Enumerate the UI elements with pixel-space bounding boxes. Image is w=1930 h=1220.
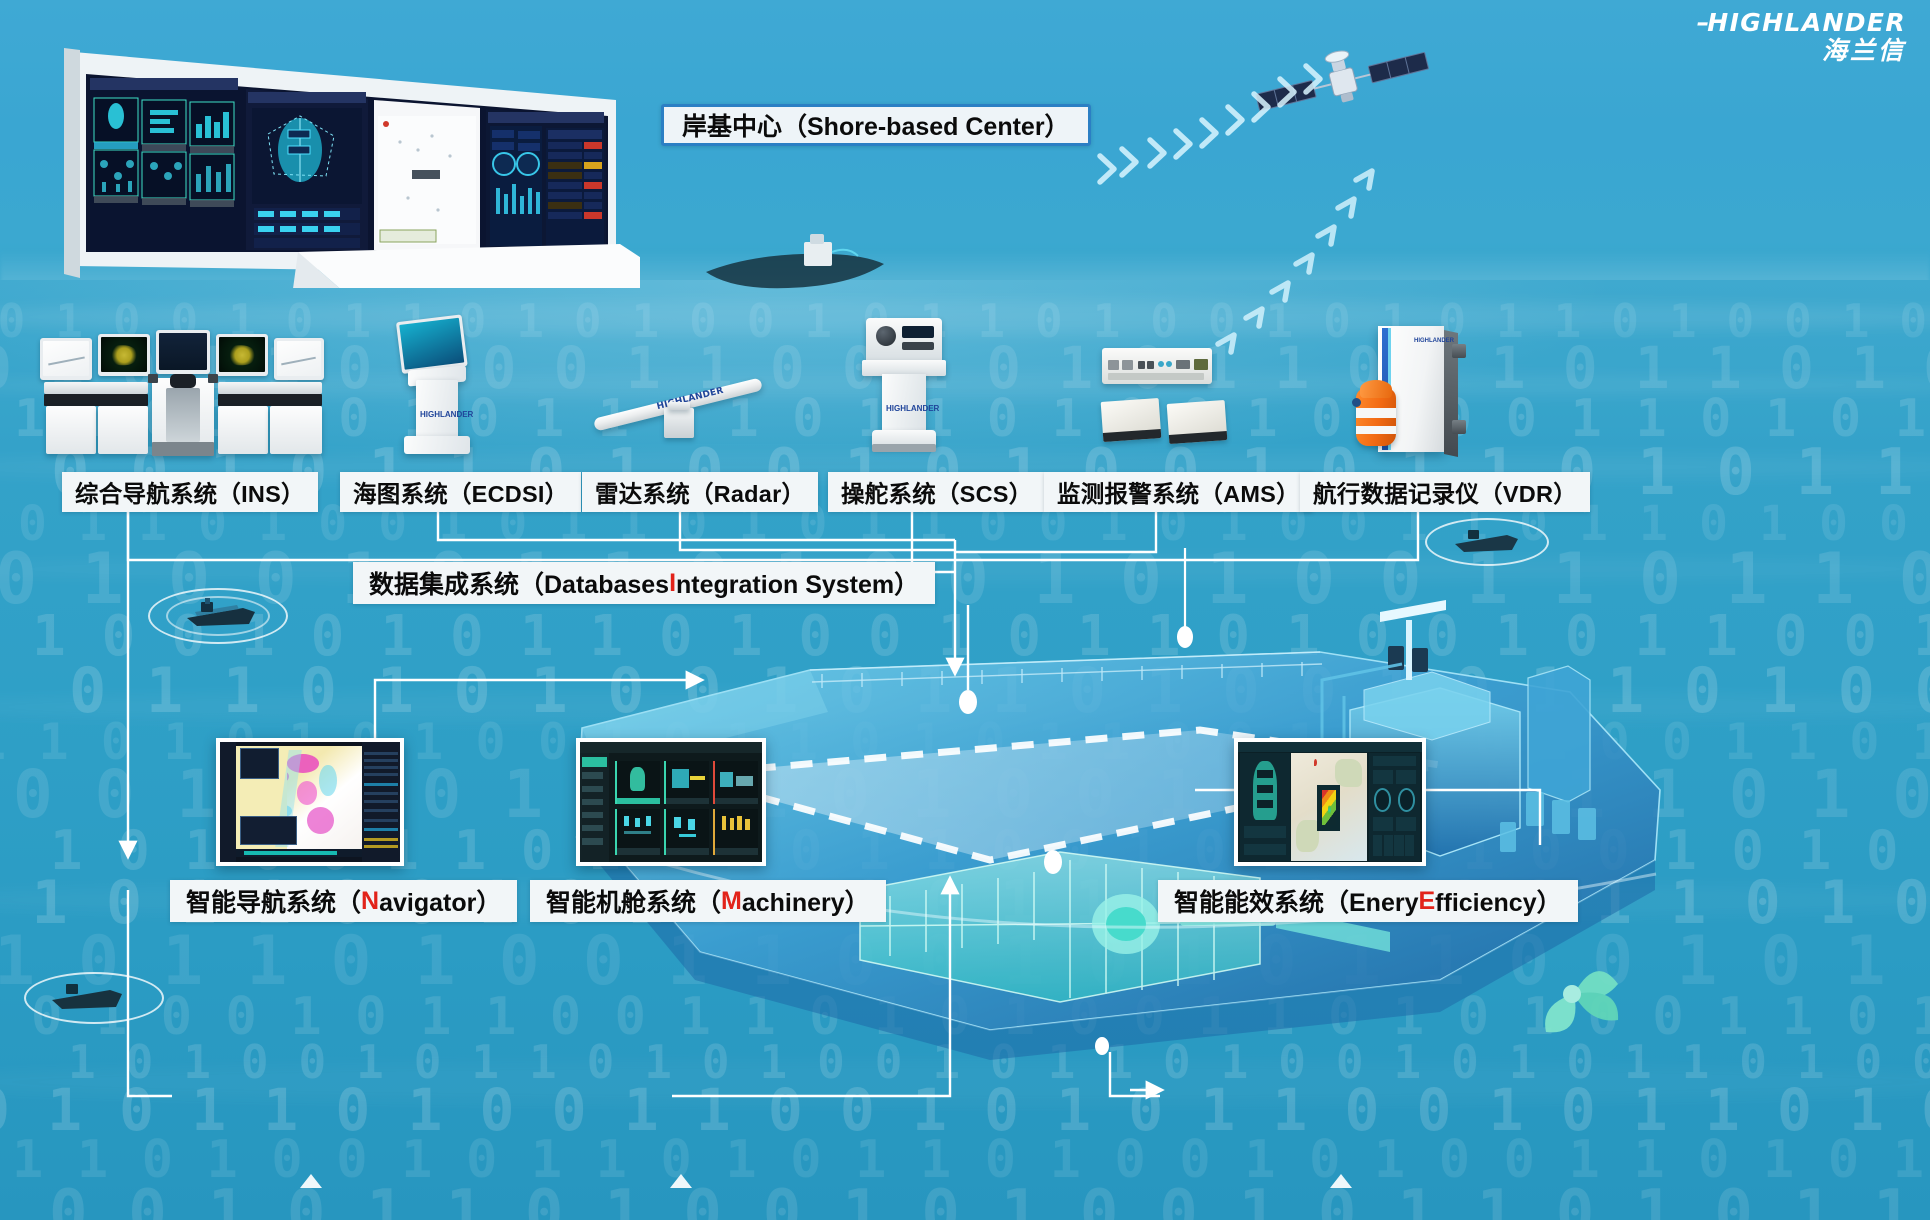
equipment-ins xyxy=(36,330,326,460)
vdr-brand: HIGHLANDER xyxy=(1414,338,1454,344)
label-system-navigator[interactable]: 智能导航系统（Navigator） xyxy=(170,880,517,922)
brand-logo: –HIGHLANDER 海兰信 xyxy=(1697,10,1906,64)
logo-dash: – xyxy=(1697,8,1707,37)
scroll-marker[interactable] xyxy=(300,1174,322,1188)
label-text: 操舵系统（SCS） xyxy=(841,475,1032,509)
label-highlight-letter: N xyxy=(361,887,379,916)
satellite-icon xyxy=(1248,40,1438,130)
logo-wordmark: –HIGHLANDER xyxy=(1697,10,1906,35)
label-text: 航行数据记录仪（VDR） xyxy=(1313,475,1577,509)
label-system-machinery[interactable]: 智能机舱系统（Machinery） xyxy=(530,880,886,922)
label-suffix: fficiency） xyxy=(1435,883,1561,919)
label-equipment-vdr[interactable]: 航行数据记录仪（VDR） xyxy=(1300,472,1590,512)
panel-energy-efficiency[interactable] xyxy=(1234,738,1426,866)
dis-highlight: I xyxy=(669,569,676,598)
panel-navigator[interactable] xyxy=(216,738,404,866)
shore-video-wall xyxy=(60,38,640,288)
ship-propeller xyxy=(1545,971,1618,1032)
scroll-marker[interactable] xyxy=(1330,1174,1352,1188)
label-data-integration[interactable]: 数据集成系统（Databases Integration System） xyxy=(353,562,935,604)
label-equipment-ecdis[interactable]: 海图系统（ECDSI） xyxy=(340,472,581,512)
label-prefix: 智能能效系统（Enery xyxy=(1174,883,1418,919)
wave-band xyxy=(0,300,1930,334)
label-equipment-scs[interactable]: 操舵系统（SCS） xyxy=(828,472,1045,512)
label-prefix: 智能机舱系统（ xyxy=(546,883,721,919)
label-highlight-letter: E xyxy=(1418,887,1435,916)
scs-brand: HIGHLANDER xyxy=(886,404,939,413)
logo-text: HIGHLANDER xyxy=(1707,8,1906,37)
label-shore-center[interactable]: 岸基中心（Shore-based Center） xyxy=(661,104,1091,146)
scroll-marker[interactable] xyxy=(670,1174,692,1188)
equipment-ecdis: HIGHLANDER xyxy=(390,318,500,460)
equipment-ams xyxy=(1098,348,1238,458)
equipment-radar: HIGHLANDER xyxy=(592,360,772,460)
mini-ship xyxy=(1452,524,1522,558)
mini-ship xyxy=(48,978,126,1014)
label-text: 海图系统（ECDSI） xyxy=(353,475,568,509)
label-highlight-letter: M xyxy=(721,887,742,916)
label-equipment-ins[interactable]: 综合导航系统（INS） xyxy=(62,472,318,512)
equipment-scs: HIGHLANDER xyxy=(862,318,952,460)
logo-chinese: 海兰信 xyxy=(1697,38,1906,64)
dis-suffix: ntegration System） xyxy=(676,565,919,601)
panel-machinery[interactable] xyxy=(576,738,766,866)
dis-prefix: 数据集成系统（Databases xyxy=(369,565,669,601)
label-text: 监测报警系统（AMS） xyxy=(1057,475,1300,509)
label-equipment-ams[interactable]: 监测报警系统（AMS） xyxy=(1044,472,1313,512)
label-prefix: 智能导航系统（ xyxy=(186,883,361,919)
label-suffix: achinery） xyxy=(742,883,870,919)
label-system-energy-efficiency[interactable]: 智能能效系统（Enery Efficiency） xyxy=(1158,880,1578,922)
label-suffix: avigator） xyxy=(379,883,501,919)
equipment-vdr: HIGHLANDER xyxy=(1352,326,1472,458)
mini-ship xyxy=(183,596,259,632)
label-text: 综合导航系统（INS） xyxy=(75,475,305,509)
ecdis-brand: HIGHLANDER xyxy=(420,410,473,419)
label-text: 雷达系统（Radar） xyxy=(595,475,805,509)
label-equipment-radar[interactable]: 雷达系统（Radar） xyxy=(582,472,818,512)
coastal-boat xyxy=(700,228,890,298)
